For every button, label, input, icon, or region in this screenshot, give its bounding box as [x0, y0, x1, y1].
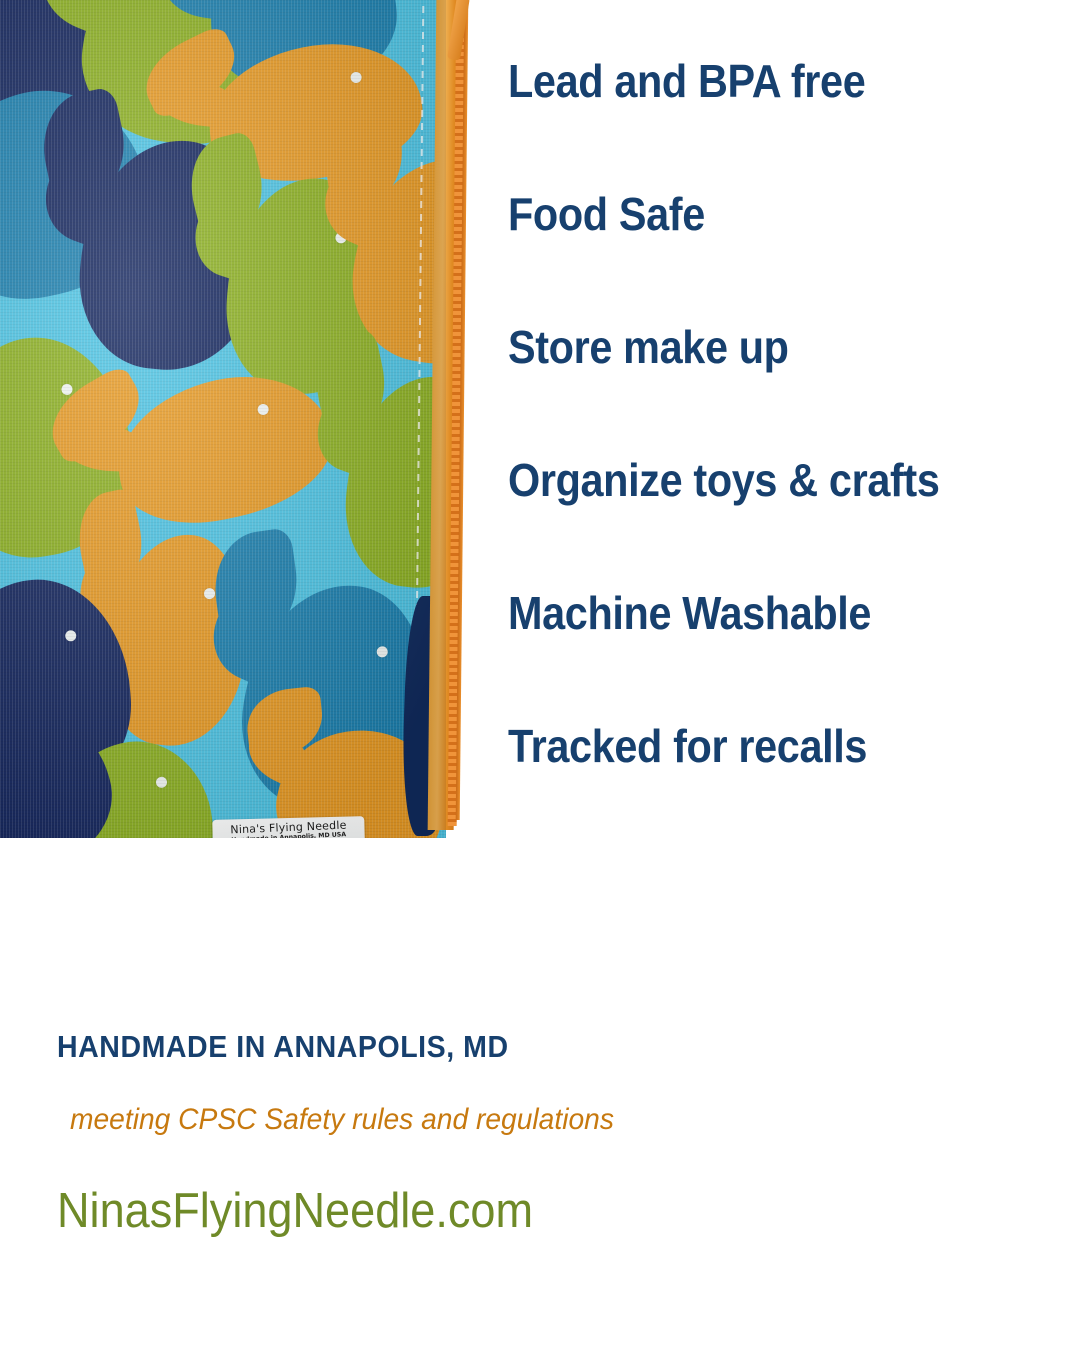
benefit-item: Tracked for recalls: [508, 723, 994, 769]
benefit-item: Store make up: [508, 324, 994, 370]
whale-motif: [104, 359, 344, 539]
benefit-list: Lead and BPA free Food Safe Store make u…: [508, 58, 1048, 769]
benefit-item: Lead and BPA free: [508, 58, 994, 104]
care-label: Nina's Flying Needle Handmade in Annapol…: [212, 816, 366, 838]
benefit-item: Machine Washable: [508, 590, 994, 636]
handmade-location-text: HANDMADE IN ANNAPOLIS, MD: [57, 1029, 509, 1065]
benefit-item: Organize toys & crafts: [508, 457, 994, 503]
product-photo: Nina's Flying Needle Handmade in Annapol…: [0, 0, 472, 838]
website-url[interactable]: NinasFlyingNeedle.com: [57, 1183, 533, 1239]
cpsc-compliance-text: meeting CPSC Safety rules and regulation…: [70, 1103, 614, 1137]
benefit-item: Food Safe: [508, 191, 994, 237]
whale-print-fabric: [0, 0, 446, 838]
